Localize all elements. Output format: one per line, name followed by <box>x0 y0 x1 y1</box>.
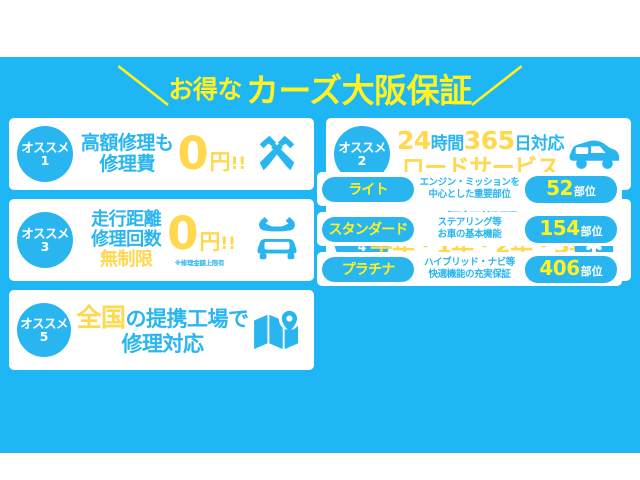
advertisement-canvas: ＼ お得な カーズ大阪保証 ／ オススメ 1 高額修理も 修理費 <box>0 0 640 480</box>
plan-desc-line-1: ハイブリッド・ナビ等 <box>416 257 523 269</box>
card-2-days-number: 365 <box>464 126 515 155</box>
plan-desc-line-2: お車の基本機能 <box>416 229 523 241</box>
plan-coverage-count: 406 部位 <box>525 256 617 283</box>
plan-count-number: 52 <box>546 176 573 200</box>
plan-count-unit: 部位 <box>574 183 596 199</box>
car-side-icon <box>565 136 623 172</box>
card-3-footnote: ※修理金額上限有 <box>175 257 224 267</box>
card-1-line-2: 修理費 <box>99 154 155 175</box>
card-3-line-3: 無制限 <box>100 250 153 270</box>
card-3-price-group: 0 円 !! ※修理金額上限有 <box>163 213 236 267</box>
feature-card-3: オススメ 3 走行距離 修理回数 無制限 0 円 !! <box>9 199 314 281</box>
card-3-line-2: 修理回数 <box>91 230 161 250</box>
plan-desc-line-1: エンジン・ミッションを <box>416 177 523 189</box>
card-5-highlight: 全国 <box>77 303 126 332</box>
badge-number: 1 <box>41 154 50 167</box>
card-3-text-block: 走行距離 修理回数 無制限 <box>91 210 161 270</box>
plan-desc-line-2: 快適機能の充実保証 <box>416 269 523 281</box>
feature-card-5: オススメ 5 全国の提携工場で 修理対応 <box>9 290 314 370</box>
card-5-line-2: 修理対応 <box>122 332 204 357</box>
card-1-line-1: 高額修理も <box>81 133 174 154</box>
map-pin-icon <box>248 309 306 351</box>
wrench-car-icon <box>248 213 306 267</box>
card-2-hours-unit: 時間 <box>431 134 464 154</box>
badge-number: 3 <box>41 240 50 253</box>
card-1-price: 0 円 !! <box>177 133 246 176</box>
plan-count-number: 406 <box>539 256 579 280</box>
slash-left-decoration: ＼ <box>117 67 171 109</box>
plan-row-standard[interactable]: スタンダード ステアリング等 お車の基本機能 154 部位 <box>317 212 622 246</box>
card-1-price-exclaim: !! <box>231 154 247 174</box>
plan-name-badge: ライト <box>322 177 414 202</box>
card-1-price-unit: 円 <box>210 146 231 176</box>
card-1-price-value: 0 <box>177 133 208 176</box>
card-5-line-1-rest: の提携工場で <box>126 307 249 331</box>
card-5-line-1: 全国の提携工場で <box>77 303 249 333</box>
plan-description: エンジン・ミッションを 中心とした重要部位 <box>414 177 525 201</box>
badge-number: 2 <box>358 154 367 167</box>
slash-right-decoration: ／ <box>469 67 523 109</box>
header-title-group: ＼ お得な カーズ大阪保証 ／ <box>124 64 515 112</box>
recommend-badge-1: オススメ 1 <box>17 126 73 182</box>
badge-number: 5 <box>40 330 49 343</box>
plan-count-number: 154 <box>539 216 579 240</box>
plan-coverage-count: 52 部位 <box>525 176 617 203</box>
plan-description: ハイブリッド・ナビ等 快適機能の充実保証 <box>414 257 525 281</box>
header-banner: ＼ お得な カーズ大阪保証 ／ <box>0 62 640 114</box>
plan-desc-line-1: ステアリング等 <box>416 217 523 229</box>
card-2-days-unit: 日対応 <box>514 134 564 154</box>
card-1-text-block: 高額修理も 修理費 <box>81 133 174 176</box>
plan-row-light[interactable]: ライト エンジン・ミッションを 中心とした重要部位 52 部位 <box>317 172 622 206</box>
card-2-hours-number: 24 <box>397 126 431 155</box>
recommend-badge-3: オススメ 3 <box>17 212 73 268</box>
plan-row-platinum[interactable]: プラチナ ハイブリッド・ナビ等 快適機能の充実保証 406 部位 <box>317 252 622 286</box>
recommend-badge-5: オススメ 5 <box>17 303 71 357</box>
card-3-price: 0 円 !! <box>167 213 236 256</box>
card-3-price-unit: 円 <box>199 226 220 256</box>
header-title-small: お得な <box>168 70 242 106</box>
plan-name-badge: スタンダード <box>322 217 414 242</box>
plan-desc-line-2: 中心とした重要部位 <box>416 189 523 201</box>
card-5-text-block: 全国の提携工場で 修理対応 <box>77 303 249 357</box>
card-2-line-1: 24時間365日対応 <box>397 127 564 156</box>
plan-list: ライト エンジン・ミッションを 中心とした重要部位 52 部位 スタンダード ス… <box>317 172 622 290</box>
card-3-price-exclaim: !! <box>220 234 236 254</box>
card-3-line-1: 走行距離 <box>91 210 161 230</box>
plan-description: ステアリング等 お車の基本機能 <box>414 217 525 241</box>
feature-card-1: オススメ 1 高額修理も 修理費 0 円 !! <box>9 118 314 190</box>
header-title-large: カーズ大阪保証 <box>246 64 472 112</box>
plan-coverage-count: 154 部位 <box>525 216 617 243</box>
card-3-price-value: 0 <box>167 213 198 256</box>
crossed-hammers-icon <box>248 131 306 177</box>
plan-count-unit: 部位 <box>581 223 603 239</box>
plan-name-badge: プラチナ <box>322 257 414 282</box>
plan-count-unit: 部位 <box>581 263 603 279</box>
